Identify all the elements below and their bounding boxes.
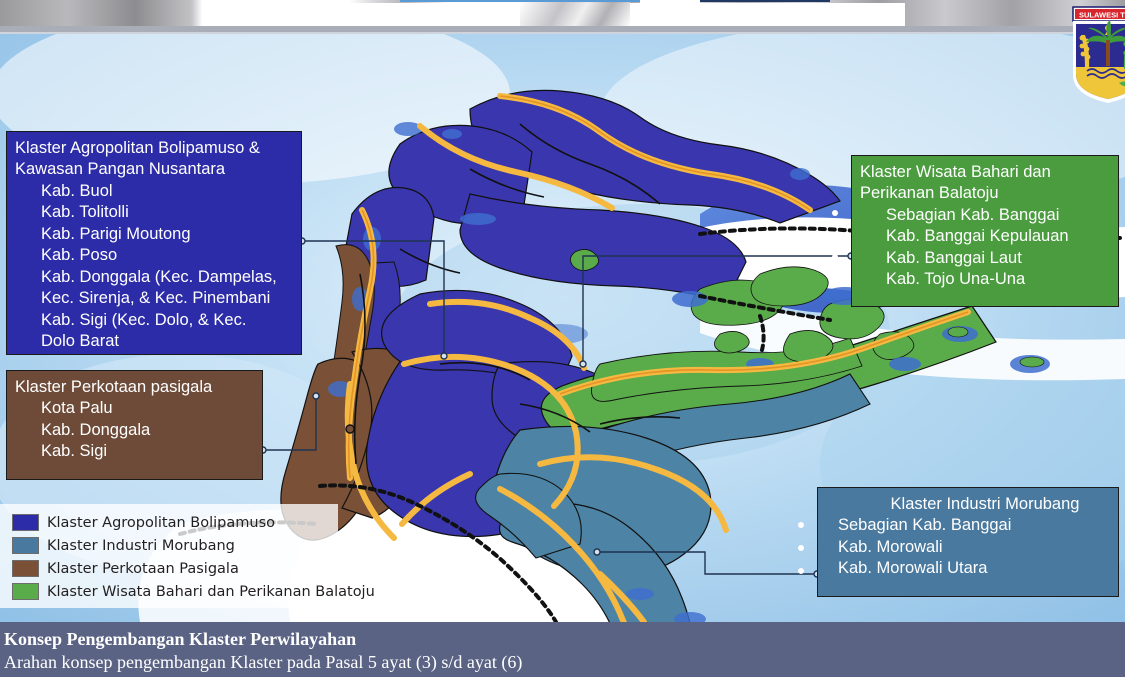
legend-swatch-wisata <box>12 583 39 600</box>
callout-perkotaan[interactable]: Klaster Perkotaan pasigala Kota Palu Kab… <box>6 370 263 480</box>
list-item: Sebagian Kab. Banggai <box>838 515 1110 536</box>
list-item: Kab. Parigi Moutong <box>41 224 293 245</box>
callout-industri-heading: Klaster Industri Morubang <box>834 494 1110 515</box>
callout-industri[interactable]: Klaster Industri Morubang Sebagian Kab. … <box>817 487 1119 597</box>
legend-label: Klaster Perkotaan Pasigala <box>47 561 239 577</box>
legend-row: Klaster Wisata Bahari dan Perikanan Bala… <box>12 580 375 603</box>
footer-subtitle: Arahan konsep pengembangan Klaster pada … <box>4 651 1125 674</box>
legend-row: Klaster Industri Morubang <box>12 534 375 557</box>
callout-agropolitan-heading: Klaster Agropolitan Bolipamuso & Kawasan… <box>15 138 293 181</box>
callout-perkotaan-list: Kota Palu Kab. Donggala Kab. Sigi <box>15 398 254 462</box>
callout-agropolitan[interactable]: Klaster Agropolitan Bolipamuso & Kawasan… <box>6 131 302 355</box>
list-item: Kab. Sigi (Kec. Dolo, & Kec. <box>41 310 293 331</box>
list-item: Kab. Sigi <box>41 441 254 462</box>
provincial-emblem: SULAWESI TE <box>1063 5 1125 103</box>
list-item: Sebagian Kab. Banggai <box>886 205 1110 226</box>
list-item: Kota Palu <box>41 398 254 419</box>
callout-industri-list: Sebagian Kab. Banggai Kab. Morowali Kab.… <box>834 515 1110 579</box>
top-accent-line-dark <box>700 0 830 2</box>
top-photo-fragment-2 <box>640 0 700 26</box>
legend-row: Klaster Agropolitan Bolipamuso <box>12 511 375 534</box>
top-grey-divider <box>0 26 1125 34</box>
emblem-banner-text: SULAWESI TE <box>1079 11 1125 20</box>
callout-agropolitan-list: Kab. Buol Kab. Tolitolli Kab. Parigi Mou… <box>15 181 293 353</box>
list-item: Dolo Barat <box>41 331 293 352</box>
list-item: Kab. Poso <box>41 245 293 266</box>
top-photo-fragment-1 <box>520 2 630 26</box>
list-item: Kab. Morowali <box>838 537 1110 558</box>
callout-perkotaan-heading: Klaster Perkotaan pasigala <box>15 377 254 398</box>
slide-canvas: SULAWESI TE <box>0 0 1125 677</box>
list-item: Kab. Buol <box>41 181 293 202</box>
list-item: Kab. Morowali Utara <box>838 558 1110 579</box>
legend-label: Klaster Wisata Bahari dan Perikanan Bala… <box>47 584 375 600</box>
map-legend: Klaster Agropolitan Bolipamuso Klaster I… <box>12 511 375 603</box>
list-item: Kab. Banggai Laut <box>886 248 1110 269</box>
list-item: Kec. Sirenja, & Kec. Pinembani <box>41 288 293 309</box>
list-item: Kab. Donggala (Kec. Dampelas, <box>41 267 293 288</box>
callout-wisata[interactable]: Klaster Wisata Bahari dan Perikanan Bala… <box>851 155 1119 307</box>
callout-wisata-heading: Klaster Wisata Bahari dan Perikanan Bala… <box>860 162 1110 205</box>
list-item: Kab. Tolitolli <box>41 202 293 223</box>
legend-swatch-perkotaan <box>12 560 39 577</box>
list-item: Kab. Tojo Una-Una <box>886 269 1110 290</box>
callout-wisata-list: Sebagian Kab. Banggai Kab. Banggai Kepul… <box>860 205 1110 291</box>
list-item: Kab. Donggala <box>41 420 254 441</box>
legend-swatch-agropolitan <box>12 514 39 531</box>
footer-title: Konsep Pengembangan Klaster Perwilayahan <box>4 628 1125 651</box>
top-photo-strip <box>0 0 1125 26</box>
list-item: Kab. Banggai Kepulauan <box>886 226 1110 247</box>
footer-caption-bar: Konsep Pengembangan Klaster Perwilayahan… <box>0 622 1125 677</box>
legend-label: Klaster Industri Morubang <box>47 538 235 554</box>
legend-row: Klaster Perkotaan Pasigala <box>12 557 375 580</box>
legend-swatch-industri <box>12 537 39 554</box>
legend-label: Klaster Agropolitan Bolipamuso <box>47 515 275 531</box>
